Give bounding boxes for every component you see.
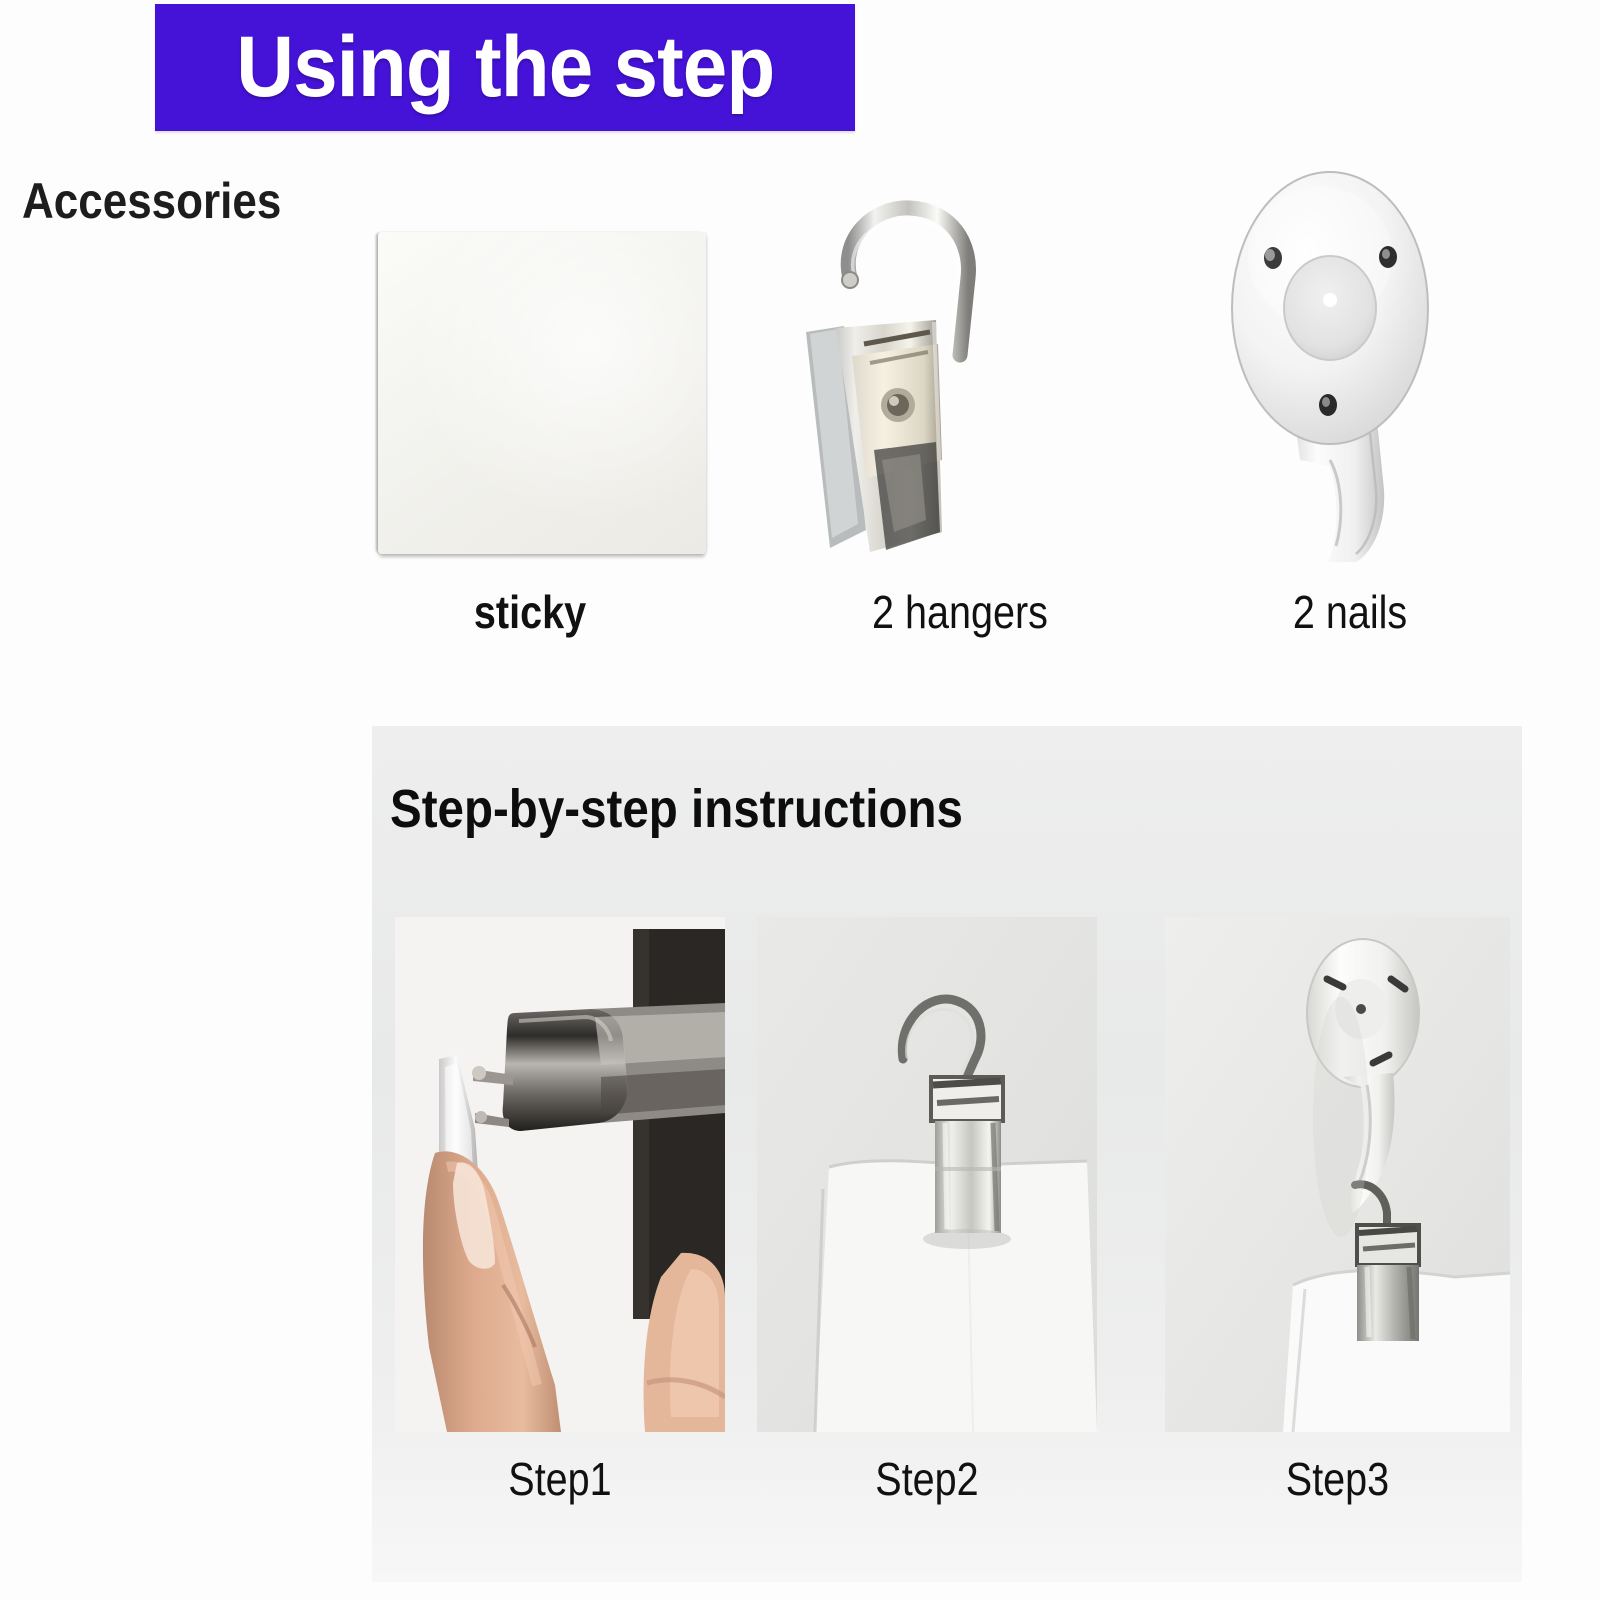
instructions-heading: Step-by-step instructions bbox=[390, 778, 963, 840]
step2-photo bbox=[757, 917, 1097, 1432]
accessory-caption-sticky: sticky bbox=[367, 585, 694, 639]
infographic-page: Using the step Accessories sticky bbox=[0, 0, 1600, 1600]
accessory-caption-nails: 2 nails bbox=[1187, 585, 1514, 639]
wall-hook-icon bbox=[1160, 160, 1540, 580]
title-banner: Using the step bbox=[155, 4, 855, 131]
accessory-caption-hangers: 2 hangers bbox=[797, 585, 1124, 639]
page-title: Using the step bbox=[236, 18, 774, 117]
adhesive-pad-icon bbox=[340, 160, 720, 580]
step-caption-1: Step1 bbox=[418, 1452, 702, 1506]
step-caption-3: Step3 bbox=[1189, 1452, 1486, 1506]
step-item-3: Step3 bbox=[1165, 917, 1507, 1517]
accessory-item-nails: 2 nails bbox=[1160, 160, 1540, 670]
accessory-item-sticky: sticky bbox=[340, 160, 720, 670]
step1-photo bbox=[395, 917, 725, 1432]
step-item-1: Step1 bbox=[395, 917, 737, 1517]
instructions-panel: Step-by-step instructions bbox=[372, 726, 1522, 1582]
step-item-2: Step2 bbox=[757, 917, 1099, 1517]
step-caption-2: Step2 bbox=[781, 1452, 1073, 1506]
step3-photo bbox=[1165, 917, 1510, 1432]
accessory-item-hanger: 2 hangers bbox=[770, 160, 1150, 670]
steps-row: Step1 bbox=[372, 917, 1522, 1517]
accessories-row: sticky bbox=[330, 160, 1530, 670]
accessories-section-label: Accessories bbox=[22, 172, 281, 230]
hook-clip-icon bbox=[770, 160, 1150, 580]
